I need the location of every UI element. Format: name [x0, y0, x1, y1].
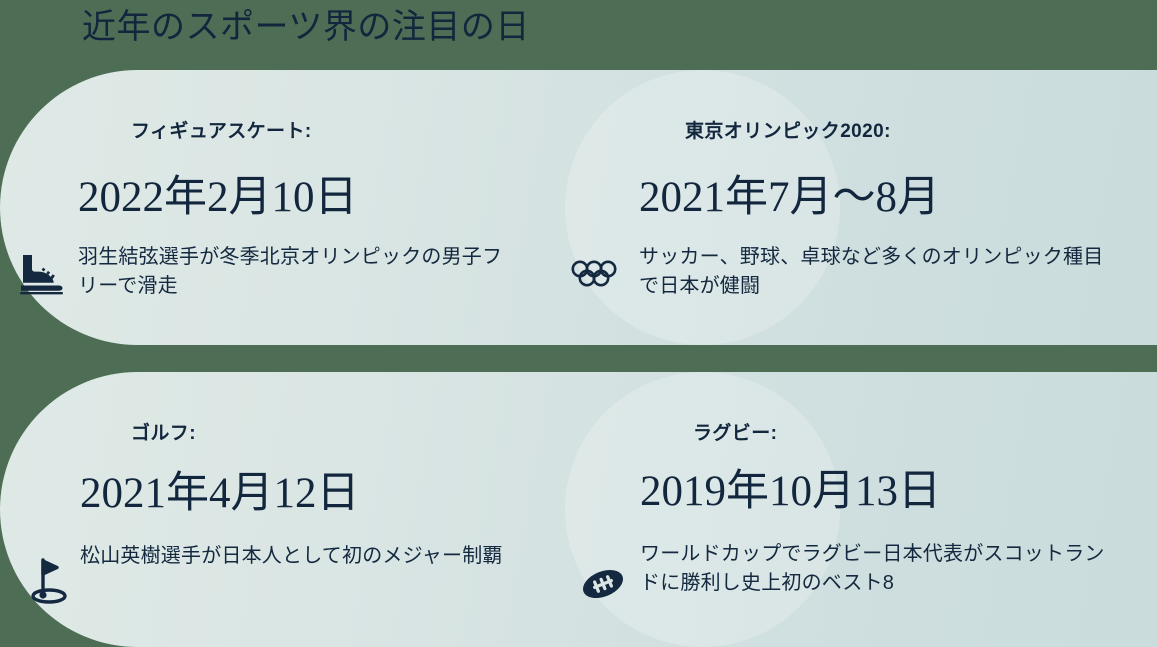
- page-title: 近年のスポーツ界の注目の日: [82, 2, 530, 54]
- card-description-tokyo-olympics: サッカー、野球、卓球など多くのオリンピック種目で日本が健闘: [639, 243, 1109, 301]
- ice-skate-icon: [14, 246, 70, 302]
- card-label-tokyo-olympics: 東京オリンピック2020:: [685, 116, 891, 143]
- card-label-figure-skating: フィギュアスケート:: [131, 116, 312, 143]
- card-row-bottom: ゴルフ: 2021年4月12日 松山英樹選手が日本人として初のメジャー制覇 ラグ…: [0, 372, 1157, 647]
- card-description-figure-skating: 羽生結弦選手が冬季北京オリンピックの男子フリーで滑走: [78, 243, 508, 301]
- olympic-rings-icon: [570, 246, 626, 302]
- card-rugby[interactable]: ラグビー: 2019年10月13日 ワールドカップでラグビー日本代表がスコットラ…: [565, 372, 1157, 647]
- card-date-figure-skating: 2022年2月10日: [78, 176, 358, 219]
- card-description-golf: 松山英樹選手が日本人として初のメジャー制覇: [80, 542, 550, 571]
- rugby-ball-icon: [575, 556, 631, 612]
- card-tokyo-olympics[interactable]: 東京オリンピック2020: 2021年7月〜8月 サッカー、野球、卓球など多くの…: [565, 70, 1157, 345]
- card-date-rugby: 2019年10月13日: [640, 470, 941, 513]
- card-figure-skating[interactable]: フィギュアスケート: 2022年2月10日 羽生結弦選手が冬季北京オリンピックの…: [0, 70, 565, 345]
- card-golf[interactable]: ゴルフ: 2021年4月12日 松山英樹選手が日本人として初のメジャー制覇: [0, 372, 565, 647]
- golf-flag-icon: [22, 552, 78, 608]
- card-date-tokyo-olympics: 2021年7月〜8月: [639, 176, 940, 219]
- card-date-golf: 2021年4月12日: [80, 472, 360, 515]
- card-row-top: フィギュアスケート: 2022年2月10日 羽生結弦選手が冬季北京オリンピックの…: [0, 70, 1157, 345]
- card-label-rugby: ラグビー:: [693, 418, 777, 445]
- card-description-rugby: ワールドカップでラグビー日本代表がスコットランドに勝利し史上初のベスト8: [640, 540, 1120, 598]
- card-label-golf: ゴルフ:: [131, 418, 196, 445]
